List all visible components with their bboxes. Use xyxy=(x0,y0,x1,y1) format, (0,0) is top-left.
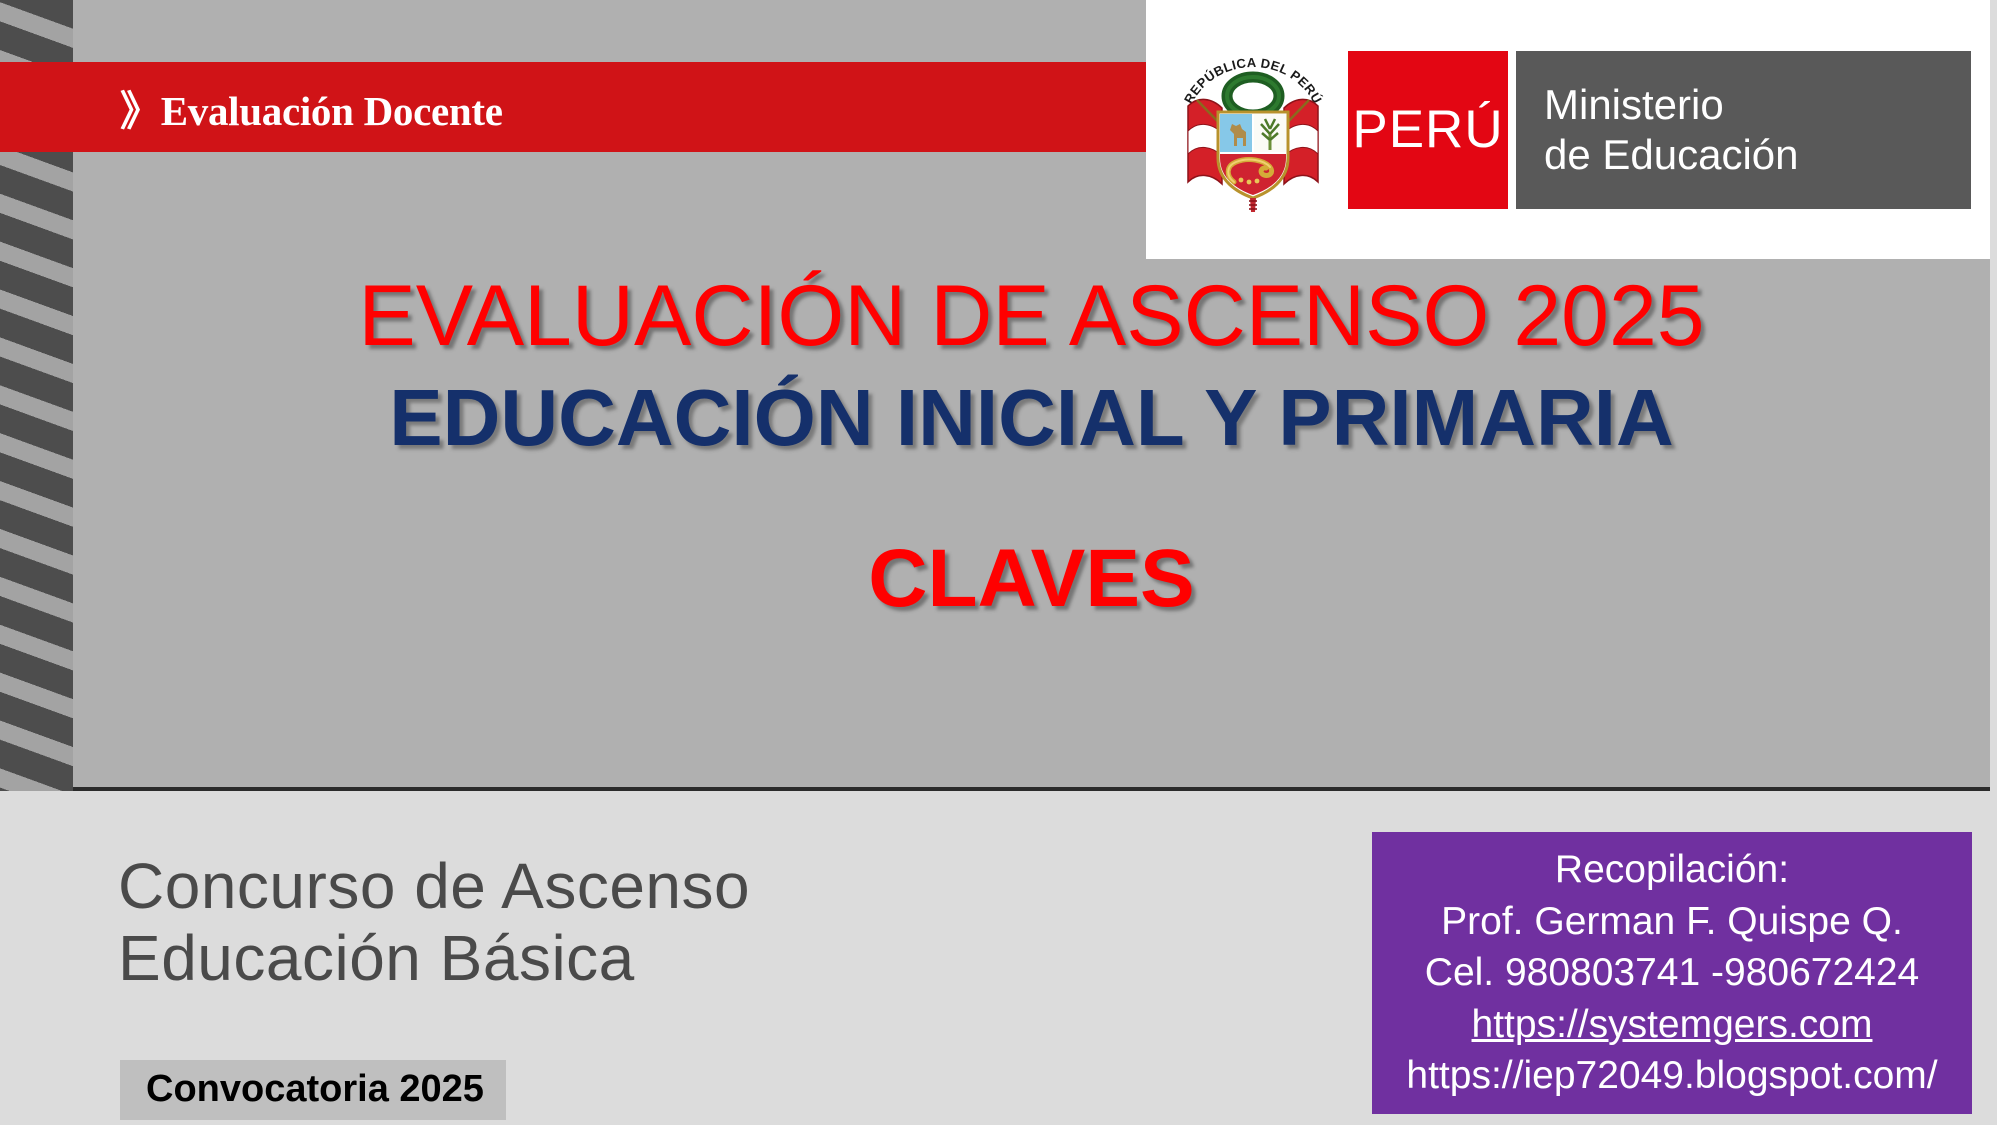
page-title: EVALUACIÓN DE ASCENSO 2025 xyxy=(73,270,1990,363)
ministry-label-line1: Ministerio xyxy=(1544,80,1971,130)
banner-label: 》Evaluación Docente xyxy=(120,77,503,137)
credit-line-phone: Cel. 980803741 -980672424 xyxy=(1425,947,1919,998)
credit-link-blogspot[interactable]: https://iep72049.blogspot.com/ xyxy=(1406,1050,1937,1101)
credit-line-recopilacion: Recopilación: xyxy=(1555,844,1789,895)
peru-label: PERÚ xyxy=(1352,103,1503,156)
credit-link-systemgers[interactable]: https://systemgers.com xyxy=(1472,999,1873,1050)
credit-box: Recopilación: Prof. German F. Quispe Q. … xyxy=(1372,832,1972,1114)
evaluacion-docente-banner: 》Evaluación Docente xyxy=(0,62,1146,152)
claves-heading: CLAVES xyxy=(73,534,1990,624)
convocatoria-badge-label: Convocatoria 2025 xyxy=(146,1068,484,1110)
main-title-block: EVALUACIÓN DE ASCENSO 2025 EDUCACIÓN INI… xyxy=(73,270,1990,625)
ministry-label-block: Ministerio de Educación xyxy=(1516,51,1971,209)
slide-canvas: 》Evaluación Docente REPÚBLICA DEL PERÚ xyxy=(0,0,1997,1125)
ministry-logo-panel: REPÚBLICA DEL PERÚ xyxy=(1146,0,1990,259)
peru-coat-of-arms-icon: REPÚBLICA DEL PERÚ xyxy=(1164,34,1342,226)
convocatoria-badge: Convocatoria 2025 xyxy=(120,1060,506,1120)
credit-line-author: Prof. German F. Quispe Q. xyxy=(1441,896,1903,947)
concurso-heading-line1: Concurso de Ascenso xyxy=(118,850,750,922)
ministry-label-line2: de Educación xyxy=(1544,130,1971,180)
concurso-heading: Concurso de Ascenso Educación Básica xyxy=(118,850,750,995)
peru-label-block: PERÚ xyxy=(1348,51,1508,209)
concurso-heading-line2: Educación Básica xyxy=(118,922,750,994)
page-subtitle: EDUCACIÓN INICIAL Y PRIMARIA xyxy=(73,373,1990,463)
